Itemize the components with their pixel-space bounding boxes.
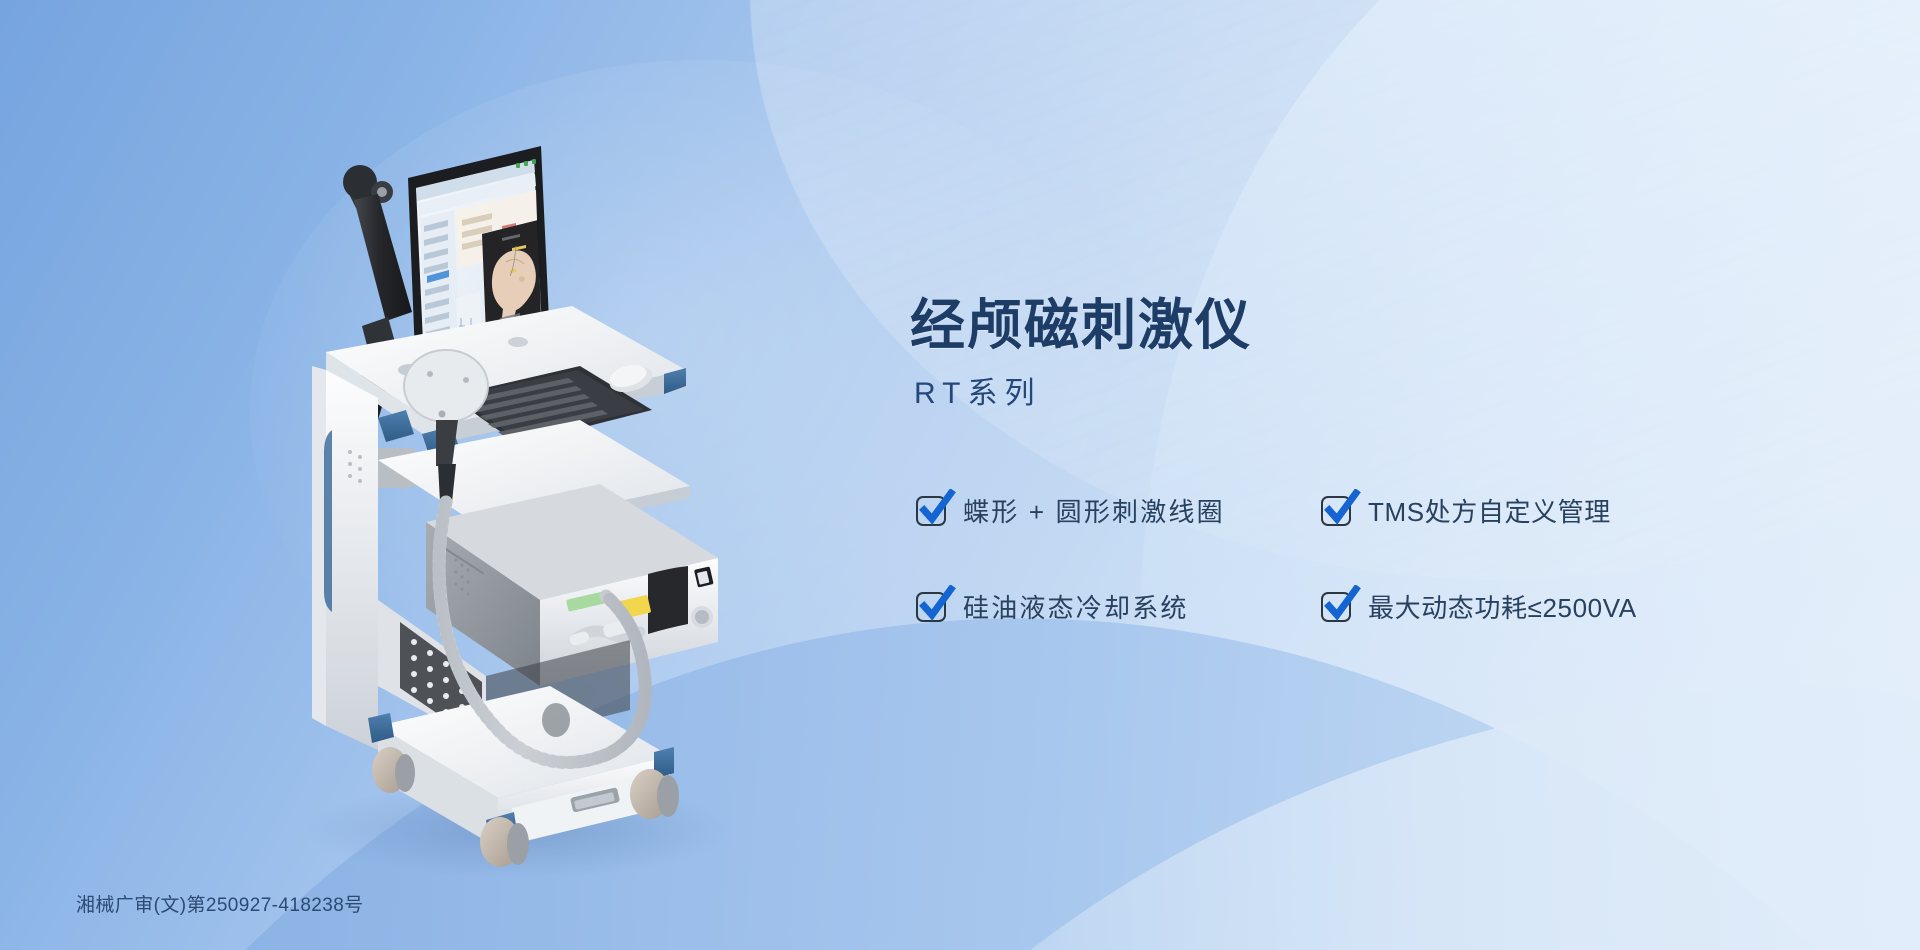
feature-item-3: 硅油液态冷却系统 — [916, 588, 1321, 625]
background-sweep-bottom-light — [611, 635, 1920, 950]
checkbox-checked-icon — [916, 592, 946, 622]
feature-item-1: 蝶形 + 圆形刺激线圈 — [916, 492, 1321, 529]
caster-right — [630, 769, 679, 819]
registration-code: 湘械广审(文)第250927-418238号 — [76, 890, 364, 917]
device-illustration — [250, 130, 770, 890]
feature-label: 硅油液态冷却系统 — [963, 588, 1189, 625]
background-ellipse-right — [1140, 0, 1920, 950]
unit-display-panel — [648, 566, 688, 634]
product-subtitle: RT系列 — [914, 368, 1730, 412]
cart-column — [312, 366, 378, 750]
page-title: 经颅磁刺激仪 — [910, 296, 1730, 354]
feature-label: TMS处方自定义管理 — [1368, 492, 1611, 529]
feature-item-2: TMS处方自定义管理 — [1321, 492, 1721, 529]
caster-rear — [542, 703, 570, 737]
feature-list: 蝶形 + 圆形刺激线圈 TMS处方自定义管理 硅油液态冷却系统 — [916, 492, 1716, 625]
checkbox-checked-icon — [1321, 592, 1351, 622]
feature-label: 蝶形 + 圆形刺激线圈 — [963, 492, 1225, 529]
product-banner: 经颅磁刺激仪 RT系列 蝶形 + 圆形刺激线圈 TMS处方自定义管理 — [0, 0, 1920, 950]
checkbox-checked-icon — [1321, 496, 1351, 526]
caster-front-center — [480, 817, 529, 867]
feature-label: 最大动态功耗≤2500VA — [1368, 588, 1637, 625]
checkbox-checked-icon — [916, 496, 946, 526]
copy-block: 经颅磁刺激仪 RT系列 — [910, 296, 1730, 412]
feature-item-4: 最大动态功耗≤2500VA — [1321, 588, 1721, 625]
column-blue-stripe — [324, 430, 332, 612]
